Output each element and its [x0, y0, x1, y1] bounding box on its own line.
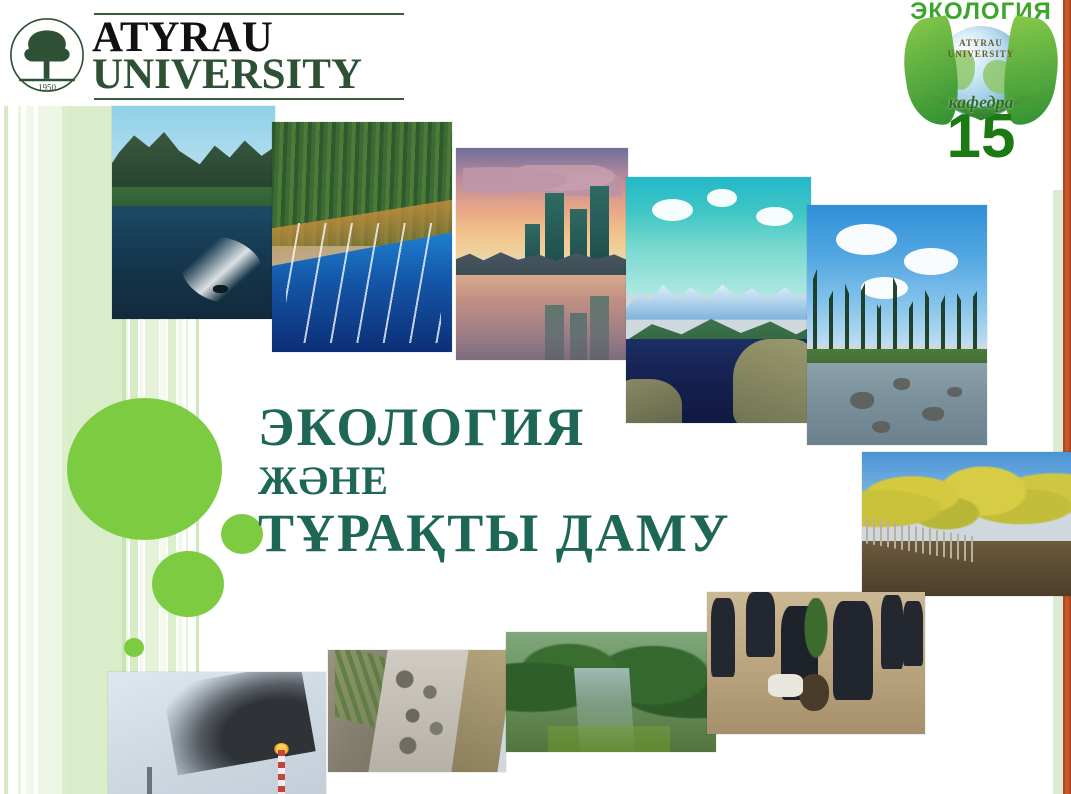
stripe-2 — [26, 106, 34, 794]
photo-polluted-drainage-channel — [328, 650, 506, 772]
photo-green-overgrown-river — [506, 632, 716, 752]
title-line-1: ЭКОЛОГИЯ — [258, 400, 778, 455]
department-word: кафедра — [901, 92, 1061, 113]
decor-circle-small — [221, 514, 263, 554]
decor-circle-large — [67, 398, 222, 540]
photo-people-planting-trees — [707, 592, 925, 734]
photo-industrial-flare-stack-with-smoke — [108, 672, 326, 794]
atyrau-university-wordmark: ATYRAU UNIVERSITY — [92, 6, 404, 102]
stripe-3 — [38, 106, 62, 794]
photo-lake-with-mountains-and-motorboat — [112, 106, 275, 319]
title-line-2: ЖӘНЕ — [258, 461, 778, 502]
stripe-4 — [62, 106, 68, 794]
svg-text:1950: 1950 — [38, 82, 57, 92]
stripe-1 — [18, 106, 21, 794]
tree-in-circle-icon: 1950 1950 — [6, 14, 88, 96]
photo-rocky-river-in-pine-forest — [807, 205, 987, 445]
right-orange-accent-bar — [1063, 0, 1071, 794]
stripe-0 — [4, 106, 8, 794]
globe-text-line-1: ATYRAU — [901, 38, 1061, 49]
decor-circle-tiny — [124, 638, 144, 657]
presentation-slide: 1950 1950 ATYRAU UNIVERSITY ЭКОЛОГИЯ ATY… — [0, 0, 1071, 794]
slide-title: ЭКОЛОГИЯ ЖӘНЕ ТҰРАҚТЫ ДАМУ — [258, 400, 778, 561]
globe-text-line-2: UNIVERSITY — [901, 49, 1061, 60]
atyrau-university-logo: 1950 1950 ATYRAU UNIVERSITY — [6, 6, 406, 102]
university-name-line-2: UNIVERSITY — [92, 53, 362, 96]
title-line-3: ТҰРАҚТЫ ДАМУ — [258, 506, 778, 561]
globe-university-text: ATYRAU UNIVERSITY — [901, 38, 1061, 61]
photo-kaindy-lake-sunken-forest — [272, 122, 452, 352]
photo-autumn-trees-along-fence — [862, 452, 1071, 596]
decor-circle-medium — [152, 551, 224, 617]
ecology-department-logo: ЭКОЛОГИЯ ATYRAU UNIVERSITY кафедра 15 — [901, 0, 1061, 195]
photo-snow-capped-mountain-range — [626, 177, 811, 423]
photo-city-skyline-at-sunset — [456, 148, 628, 360]
